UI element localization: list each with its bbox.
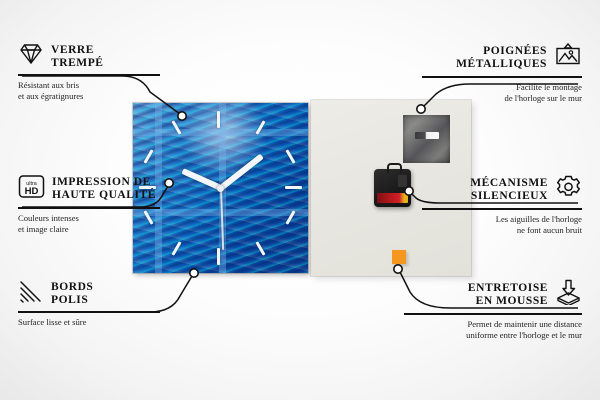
feature-title: IMPRESSION DE HAUTE QUALITÉ <box>52 176 156 202</box>
clock-tick <box>255 241 265 255</box>
feature-description: Facilite le montage de l'horloge sur le … <box>422 82 582 104</box>
clock-tick <box>217 248 220 265</box>
divider <box>422 208 582 210</box>
clock-tick <box>285 186 302 189</box>
polished-edge-lines-icon <box>18 279 44 308</box>
gear-icon <box>555 174 582 205</box>
framed-picture-hanging-icon <box>554 42 582 73</box>
feature-title: MÉCANISME SILENCIEUX <box>470 177 548 203</box>
feature-description: Résistant aux bris et aux égratignures <box>18 80 160 102</box>
feature-mecanisme-silencieux[interactable]: MÉCANISME SILENCIEUX Les aiguilles de l'… <box>422 174 582 236</box>
arrow-onto-pad-icon <box>555 279 582 310</box>
metal-hanger-plate <box>403 115 450 163</box>
divider <box>18 311 160 313</box>
feature-bords-polis[interactable]: BORDS POLIS Surface lisse et sûre <box>18 279 160 328</box>
feature-verre-trempe[interactable]: VERRE TREMPÉ Résistant aux bris et aux é… <box>18 42 160 102</box>
divider <box>404 313 582 315</box>
feature-impression-haute-qualite[interactable]: ultra HD IMPRESSION DE HAUTE QUALITÉ Cou… <box>18 174 160 235</box>
feature-title: POIGNÉES MÉTALLIQUES <box>456 45 547 71</box>
movement-detail <box>398 175 407 187</box>
clock-center-cap <box>217 185 224 192</box>
divider <box>18 207 160 209</box>
diamond-icon <box>18 42 44 71</box>
pattern-line <box>133 129 308 136</box>
clock-tick <box>217 111 220 128</box>
feature-poignees-metalliques[interactable]: POIGNÉES MÉTALLIQUES Facilite le montage… <box>422 42 582 104</box>
aa-battery <box>377 193 408 203</box>
infographic-stage: VERRE TREMPÉ Résistant aux bris et aux é… <box>0 0 600 400</box>
feature-description: Permet de maintenir une distance uniform… <box>404 319 582 341</box>
feature-title: BORDS POLIS <box>51 281 93 307</box>
clock-hour-hand <box>181 168 222 191</box>
movement-hook <box>387 163 402 173</box>
hanger-slot <box>415 132 439 139</box>
clock-tick <box>171 241 181 255</box>
clock-tick <box>285 149 295 163</box>
clock-tick <box>143 149 153 163</box>
feature-description: Les aiguilles de l'horloge ne font aucun… <box>422 214 582 236</box>
svg-text:HD: HD <box>25 186 39 197</box>
divider <box>422 76 582 78</box>
feature-title: VERRE TREMPÉ <box>51 44 104 70</box>
ultra-hd-badge-icon: ultra HD <box>18 174 45 204</box>
feature-title: ENTRETOISE EN MOUSSE <box>468 282 548 308</box>
divider <box>18 74 160 76</box>
orange-foam-spacer <box>392 250 406 264</box>
feature-entretoise-en-mousse[interactable]: ENTRETOISE EN MOUSSE Permet de maintenir… <box>404 279 582 341</box>
feature-description: Surface lisse et sûre <box>18 317 160 328</box>
quartz-movement-box <box>374 169 411 207</box>
feature-description: Couleurs intenses et image claire <box>18 213 160 235</box>
